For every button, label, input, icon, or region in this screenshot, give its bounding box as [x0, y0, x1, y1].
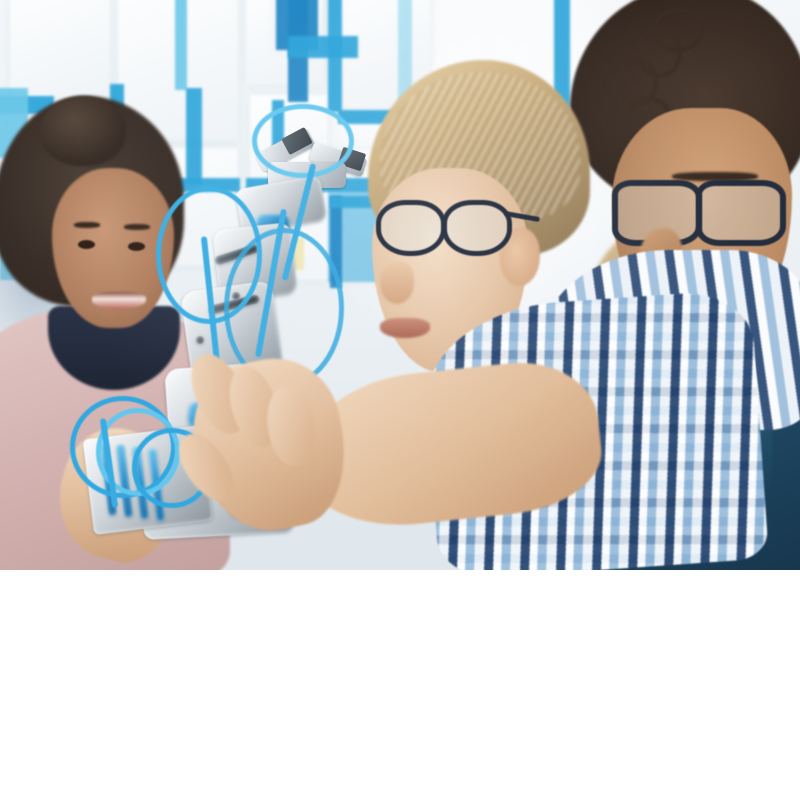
girl-eyebrow — [74, 222, 100, 228]
blue-tape-strip — [175, 0, 187, 90]
caption-line-2: Hands-on Skills, Explore the — [14, 648, 786, 706]
girl-eye — [128, 242, 145, 251]
glasses-lens-left — [376, 200, 446, 256]
teacher-hair-curl — [652, 8, 704, 52]
girl-smile — [92, 292, 146, 309]
caption-line-3: Principles of Science — [14, 706, 786, 764]
promo-banner: Exercise Child’s Logic, Hands-on Skills,… — [0, 0, 800, 800]
blue-tape-strip — [186, 88, 202, 184]
blue-tape-strip — [328, 0, 342, 112]
caption-line-1: Exercise Child’s Logic, — [14, 590, 786, 648]
boy-nose — [380, 262, 414, 304]
robot-screw — [196, 336, 204, 344]
boy-glasses — [376, 200, 524, 252]
girl-eyebrow — [124, 224, 150, 230]
glasses-lens-right — [442, 200, 512, 256]
girl-eye — [78, 240, 95, 249]
blue-tape-strip — [288, 36, 358, 58]
caption-block: Exercise Child’s Logic, Hands-on Skills,… — [14, 590, 786, 764]
glasses-lens-right — [696, 180, 786, 246]
girl-hair-bun — [40, 96, 126, 166]
hydraulic-tube — [252, 104, 354, 178]
boy-lip — [380, 318, 430, 338]
teacher-glasses — [612, 180, 778, 242]
